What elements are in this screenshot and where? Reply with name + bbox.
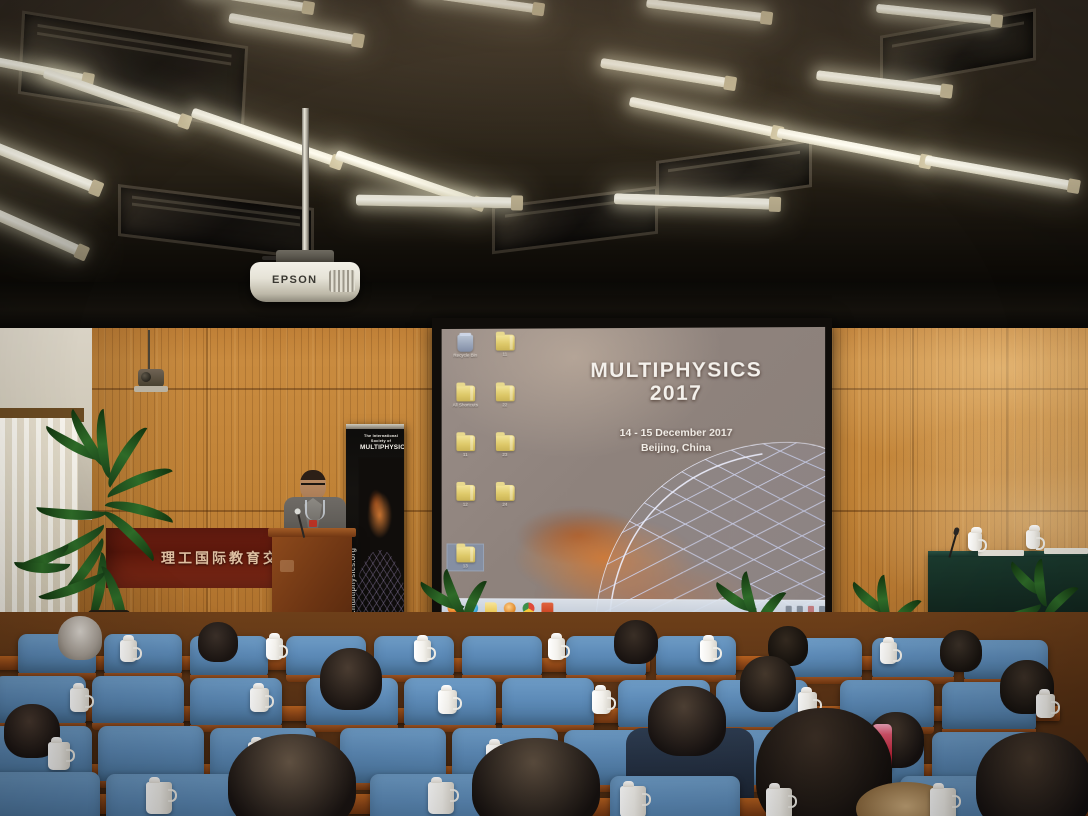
audience-head — [198, 622, 238, 662]
teacup — [1026, 530, 1040, 549]
desktop-icon-folder[interactable]: 11 — [448, 435, 484, 457]
ceiling — [0, 0, 1088, 318]
teacup — [70, 688, 89, 712]
teacup — [548, 638, 565, 660]
slide-subtitle-dates: 14 - 15 December 2017 — [536, 426, 817, 442]
folder-icon — [495, 335, 514, 351]
desktop-icon-folder[interactable]: 12 — [448, 485, 484, 507]
ceiling-projector: EPSON — [250, 262, 360, 302]
head-table-paper — [1044, 548, 1088, 554]
projected-slide-surface: Recycle Bin 11 All Shortcuts 22 — [442, 327, 825, 619]
audience-seat — [656, 636, 736, 676]
slide-subtitle-location: Beijing, China — [536, 441, 817, 456]
potted-palm-plant — [40, 440, 180, 640]
banner-headline: The International Society of MULTIPHYSIC… — [360, 434, 402, 451]
eyeglasses-icon — [301, 483, 325, 490]
teacup — [266, 638, 283, 660]
security-camera-icon — [138, 369, 164, 387]
wireframe-dome-graphic — [586, 432, 825, 613]
teacup — [930, 788, 956, 816]
audience-seat — [502, 678, 594, 726]
audience-seating-area — [0, 612, 1088, 816]
desktop-icon-recycle-bin[interactable]: Recycle Bin — [448, 335, 484, 358]
folder-icon — [495, 385, 514, 401]
folder-icon — [456, 485, 475, 501]
teacup — [250, 688, 269, 712]
desktop-icon-folder[interactable]: All Shortcuts — [448, 386, 484, 408]
recycle-bin-icon — [457, 335, 473, 352]
audience-head-foreground — [228, 734, 356, 816]
teacup — [146, 782, 172, 814]
teacup — [700, 640, 717, 662]
audience-seat — [104, 634, 182, 674]
desktop-icon-folder[interactable]: 22 — [487, 385, 523, 407]
audience-head — [320, 648, 382, 710]
audience-head — [614, 620, 658, 664]
folder-icon — [456, 435, 475, 451]
teacup — [968, 532, 982, 551]
banner-headline-big: MULTIPHYSICS — [360, 444, 402, 451]
projection-screen: Recycle Bin 11 All Shortcuts 22 — [432, 318, 832, 626]
presenter-badge — [309, 520, 317, 527]
projector-mounting-pole — [302, 108, 309, 266]
slide-subtitle: 14 - 15 December 2017 Beijing, China — [536, 426, 817, 457]
ceiling-shading — [0, 0, 1088, 318]
audience-seat — [462, 636, 542, 676]
conference-hall-photo: EPSON 理工国际教育交流大厦 — [0, 0, 1088, 816]
teacup — [438, 690, 457, 714]
slide-title-line1: MULTIPHYSICS — [536, 359, 817, 382]
slide-title-line2: 2017 — [536, 381, 817, 406]
audience-head — [648, 686, 726, 756]
desktop-icon-folder[interactable]: 24 — [487, 485, 523, 507]
audience-seat — [0, 772, 100, 816]
projector-brand-label: EPSON — [272, 274, 318, 286]
teacup — [1036, 694, 1055, 718]
teacup — [48, 742, 70, 770]
audience-head-foreground — [976, 732, 1088, 816]
teacup — [592, 690, 611, 714]
podium-emblem — [280, 560, 294, 572]
audience-head — [58, 616, 102, 660]
audience-seat — [92, 676, 184, 724]
desktop-icon-folder-selected[interactable]: 13 — [448, 545, 484, 571]
folder-icon — [495, 435, 514, 451]
audience-head — [740, 656, 796, 712]
audience-head — [940, 630, 982, 672]
folder-icon — [456, 386, 475, 402]
desktop-icon-folder[interactable]: 11 — [487, 335, 523, 358]
head-table-paper — [978, 550, 1024, 556]
teacup — [766, 788, 792, 816]
podium-top-surface — [268, 528, 356, 537]
banner-headline-small: The International Society of — [360, 434, 402, 443]
folder-icon — [456, 547, 475, 563]
teacup — [880, 642, 897, 664]
desktop-icon-grid: Recycle Bin 11 All Shortcuts 22 — [448, 335, 525, 581]
presenter-lanyard — [305, 500, 325, 520]
teacup — [620, 786, 646, 816]
camera-cable — [148, 330, 150, 370]
teacup — [120, 640, 137, 662]
banner-top-rail — [346, 424, 404, 429]
teacup — [428, 782, 454, 814]
folder-icon — [495, 485, 514, 501]
audience-head-foreground — [472, 738, 600, 816]
desktop-icon-folder[interactable]: 23 — [487, 435, 523, 457]
slide-title: MULTIPHYSICS 2017 — [536, 359, 817, 406]
projector-vent-grille — [329, 270, 355, 292]
teacup — [414, 640, 431, 662]
